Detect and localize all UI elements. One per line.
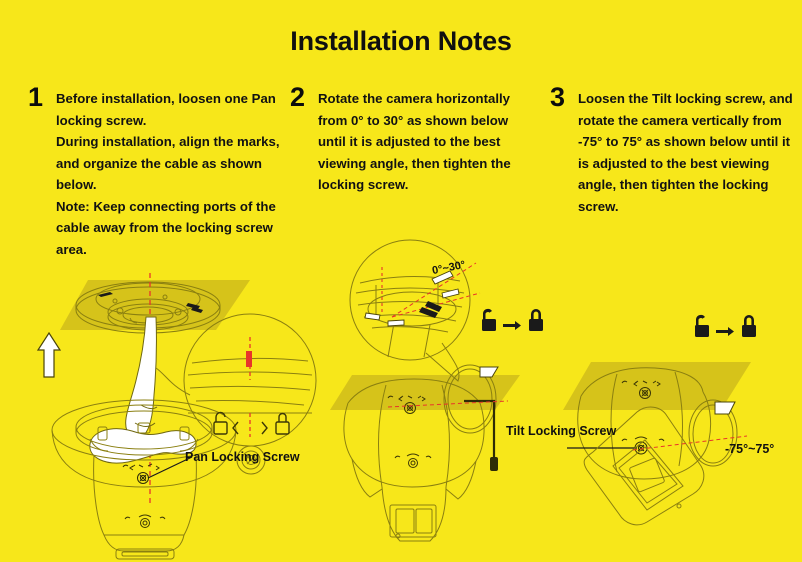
cable (126, 317, 157, 438)
step-2-text: Rotate the camera horizontally from 0° t… (318, 88, 538, 196)
unlock-icon (695, 315, 709, 337)
right-arrow-icon (503, 321, 521, 330)
camera-body (94, 455, 197, 559)
step-1-number: 1 (28, 84, 43, 111)
pan-locking-screw-label: Pan Locking Screw (185, 450, 300, 464)
step-1-text: Before installation, loosen one Pan lock… (56, 88, 288, 260)
lock-icon (742, 315, 756, 337)
figure-1-ceiling-mount-alignment (20, 255, 320, 555)
step-3-text: Loosen the Tilt locking screw, and rotat… (578, 88, 796, 217)
hex-key-icon (464, 401, 498, 471)
lower-marks (125, 515, 165, 528)
page-title: Installation Notes (0, 26, 802, 57)
tilt-locking-screw (622, 437, 664, 454)
step-2-number: 2 (290, 84, 305, 111)
pan-mark-indicator (123, 464, 159, 470)
lock-icon (276, 414, 289, 435)
step-3-number: 3 (550, 84, 565, 111)
installation-notes-page: Installation Notes 1 Before installation… (0, 0, 802, 562)
figure-2-horizontal-pan-rotation (330, 235, 580, 555)
lower-marks (395, 454, 431, 468)
lock-icon (529, 309, 543, 331)
up-arrow-icon (38, 333, 60, 377)
unlock-icon (482, 309, 496, 331)
right-arrow-icon (716, 327, 734, 336)
tilt-angle-label: -75°~75° (725, 442, 774, 456)
pan-locking-screw (138, 473, 149, 484)
lock-sequence (482, 309, 543, 331)
lock-sequence (695, 315, 756, 337)
tilt-locking-screw-label: Tilt Locking Screw (506, 424, 616, 438)
unlock-icon (214, 413, 227, 435)
